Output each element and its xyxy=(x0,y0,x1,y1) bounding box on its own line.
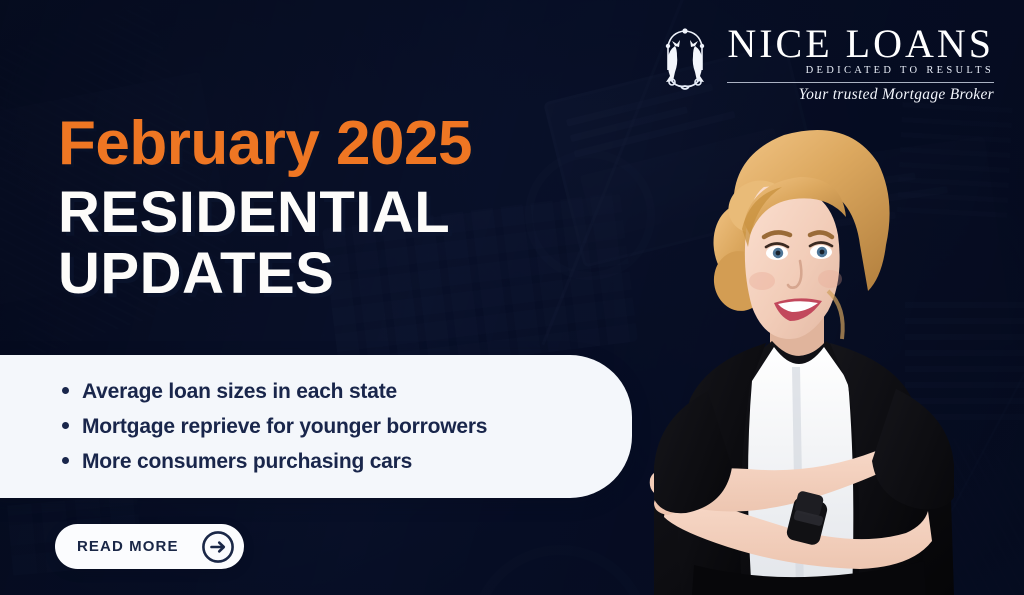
read-more-button[interactable]: READ MORE xyxy=(55,524,244,569)
bullet-dot-icon xyxy=(62,387,69,394)
list-item-label: Mortgage reprieve for younger borrowers xyxy=(82,416,487,437)
headline-month: February 2025 xyxy=(58,112,472,175)
bullet-list: Average loan sizes in each state Mortgag… xyxy=(62,374,592,479)
logo-company-name: NICE LOANS xyxy=(727,24,994,64)
list-item-label: Average loan sizes in each state xyxy=(82,381,397,402)
headline-line-2: UPDATES xyxy=(58,242,472,307)
list-item: Average loan sizes in each state xyxy=(62,374,592,409)
logo-tagline: Your trusted Mortgage Broker xyxy=(799,87,994,103)
brand-logo[interactable]: NICE LOANS DEDICATED TO RESULTS Your tru… xyxy=(651,24,994,102)
bullet-panel: Average loan sizes in each state Mortgag… xyxy=(0,355,632,498)
heraldic-crest-two-horses-icon xyxy=(651,26,719,92)
headline-block: February 2025 RESIDENTIAL UPDATES xyxy=(58,112,472,307)
logo-subtitle: DEDICATED TO RESULTS xyxy=(806,66,994,77)
list-item-label: More consumers purchasing cars xyxy=(82,451,412,472)
read-more-label: READ MORE xyxy=(77,538,179,555)
list-item: More consumers purchasing cars xyxy=(62,444,592,479)
bullet-dot-icon xyxy=(62,422,69,429)
headline-title: RESIDENTIAL UPDATES xyxy=(58,181,472,307)
logo-divider xyxy=(727,82,994,83)
bullet-dot-icon xyxy=(62,457,69,464)
list-item: Mortgage reprieve for younger borrowers xyxy=(62,409,592,444)
arrow-right-circle-icon xyxy=(201,530,235,564)
headline-line-1: RESIDENTIAL xyxy=(58,180,450,245)
marketing-banner: NICE LOANS DEDICATED TO RESULTS Your tru… xyxy=(0,0,1024,595)
